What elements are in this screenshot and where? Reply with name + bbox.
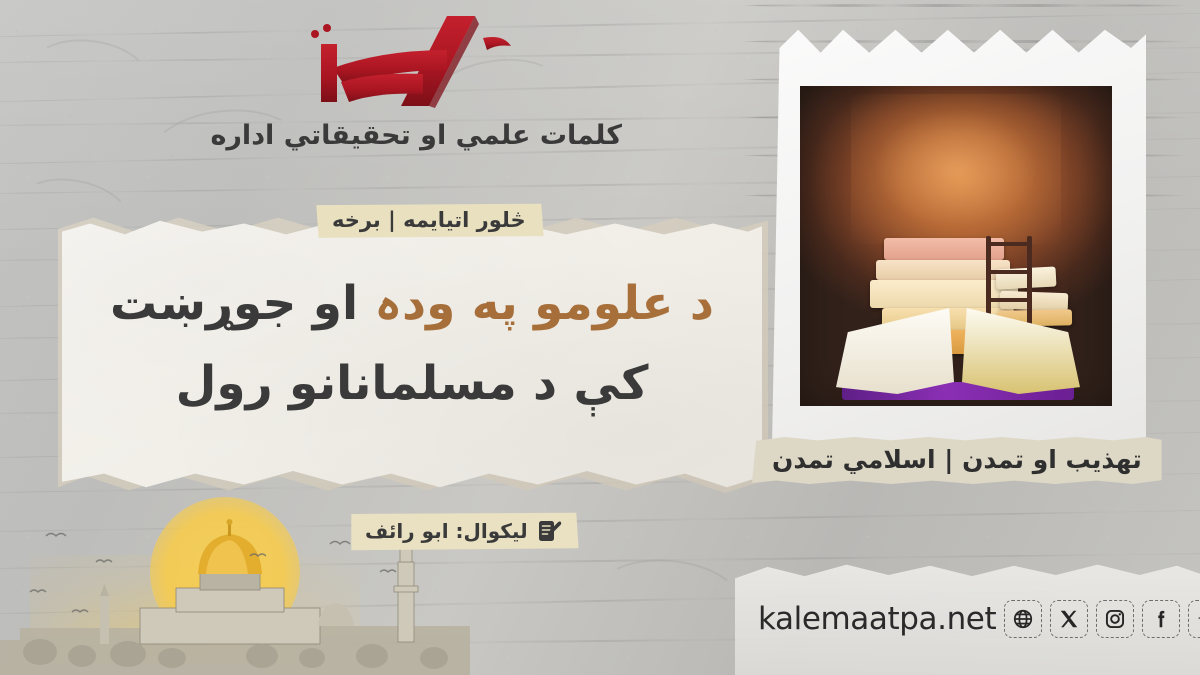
footer-social-row: kalemaatpa.net (748, 600, 1200, 638)
category-ribbon[interactable]: څلور اتيايمه | برخه (314, 203, 544, 239)
topic-tag[interactable]: تهذيب او تمدن | اسلامي تمدن (752, 436, 1162, 485)
feature-photo (772, 16, 1146, 474)
article-title-line-1: د علومو په ودہ او جوړښت (62, 278, 762, 330)
article-title-line-2: کې د مسلمانانو رول (62, 358, 762, 410)
open-book-icon (836, 296, 1080, 400)
telegram-icon[interactable] (1188, 600, 1200, 638)
poster-canvas: كلمات علمي او تحقيقاتي اداره د علومو په … (0, 0, 1200, 675)
facebook-icon[interactable] (1142, 600, 1180, 638)
article-title-rest: او جوړښت (110, 276, 358, 331)
pen-document-icon (537, 518, 563, 544)
photo-backlight-glow (851, 94, 1061, 244)
instagram-icon[interactable] (1096, 600, 1134, 638)
brand-subtitle: كلمات علمي او تحقيقاتي اداره (222, 120, 622, 151)
author-badge[interactable]: ليكوال: ابو رائف (349, 512, 579, 551)
books-illustration (800, 86, 1112, 406)
website-url[interactable]: kalemaatpa.net (758, 601, 996, 637)
article-title-card: د علومو په ودہ او جوړښت کې د مسلمانانو ر… (62, 218, 762, 490)
sun-disc (150, 497, 300, 647)
x-twitter-icon[interactable] (1050, 600, 1088, 638)
article-title-accent: د علومو په ودہ (374, 276, 714, 331)
kalemaat-calligraphy-icon (297, 10, 547, 114)
sun-haze (30, 555, 360, 665)
kalemaat-logo-mark (222, 10, 622, 114)
author-label: ليكوال: ابو رائف (365, 519, 528, 543)
brand-logo-block: كلمات علمي او تحقيقاتي اداره (222, 10, 622, 151)
globe-icon[interactable] (1004, 600, 1042, 638)
